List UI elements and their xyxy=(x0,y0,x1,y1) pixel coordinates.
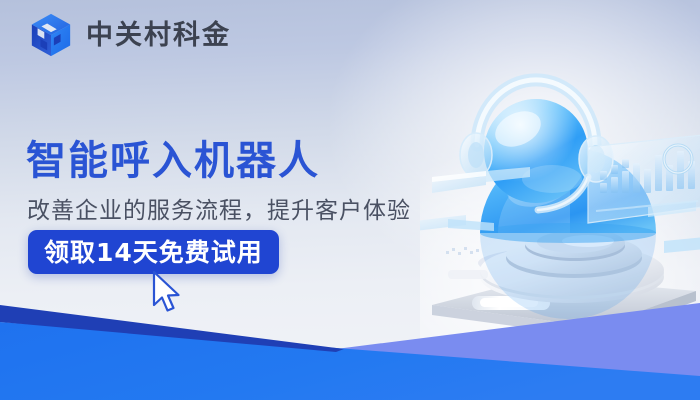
page-subtitle: 改善企业的服务流程，提升客户体验 xyxy=(27,197,411,227)
mouse-cursor-icon xyxy=(150,270,184,316)
hero-illustration xyxy=(420,55,700,345)
cta-label: 领取14天免费试用 xyxy=(44,240,263,265)
free-trial-cta-button[interactable]: 领取14天免费试用 xyxy=(28,230,279,274)
brand-name: 中关村科金 xyxy=(86,22,231,49)
brand-logo[interactable]: 中关村科金 xyxy=(28,12,231,58)
pixel-detail xyxy=(446,247,479,255)
cube-logo-icon xyxy=(28,12,74,58)
promo-banner: 中关村科金 智能呼入机器人 改善企业的服务流程，提升客户体验 领取14天免费试用 xyxy=(0,0,700,400)
page-title: 智能呼入机器人 xyxy=(26,138,320,185)
analytics-panel xyxy=(588,135,700,223)
